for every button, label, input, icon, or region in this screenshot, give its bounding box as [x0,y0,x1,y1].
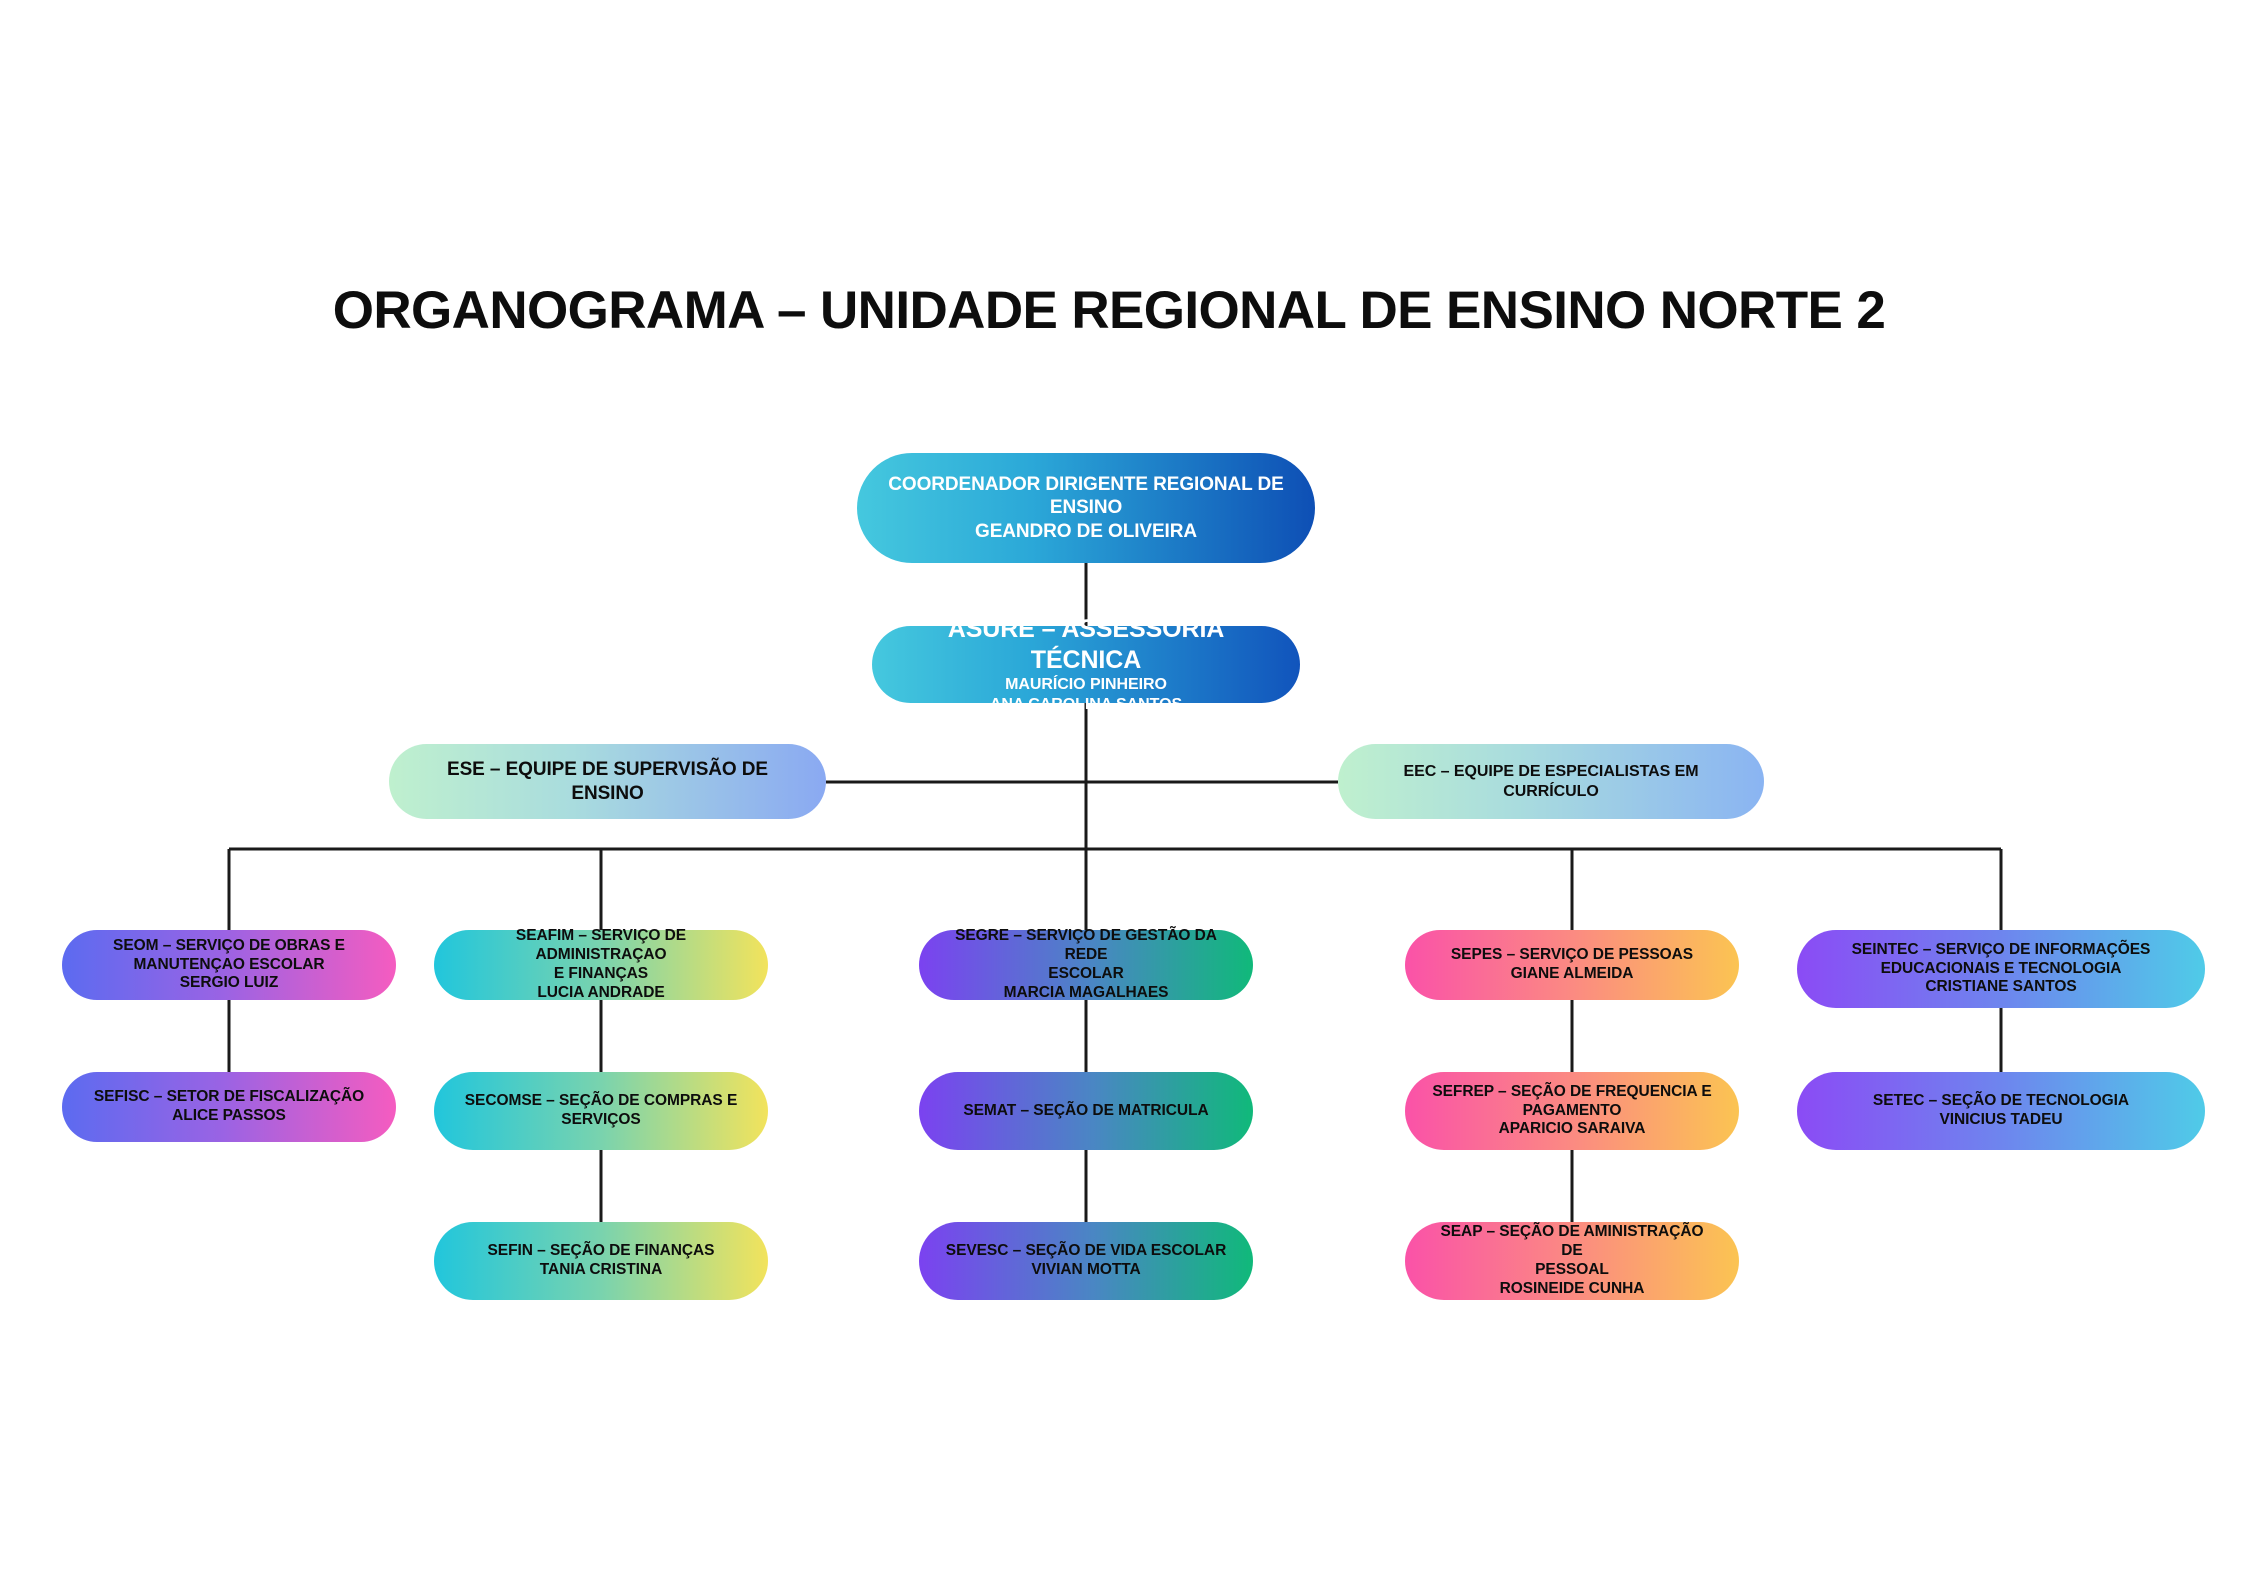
node-secomse-line-2: SERVIÇOS [460,1111,742,1130]
node-setec-title: SETEC – SEÇÃO DE TECNOLOGIA [1823,1092,2179,1111]
node-asure-title: ASURE – ASSESSORIA TÉCNICA [898,614,1274,675]
node-segre[interactable]: SEGRE – SERVIÇO DE GESTÃO DA REDE ESCOLA… [919,930,1253,1000]
node-seintec-line-2: EDUCACIONAIS E TECNOLOGIA [1823,960,2179,979]
node-ese-title: ESE – EQUIPE DE SUPERVISÃO DE ENSINO [415,758,800,804]
node-semat[interactable]: SEMAT – SEÇÃO DE MATRICULA [919,1072,1253,1150]
node-segre-person: MARCIA MAGALHAES [945,984,1227,1003]
node-setec[interactable]: SETEC – SEÇÃO DE TECNOLOGIA VINICIUS TAD… [1797,1072,2205,1150]
node-sefin-title: SEFIN – SEÇÃO DE FINANÇAS [460,1242,742,1261]
node-secomse-line-1: SECOMSE – SEÇÃO DE COMPRAS E [460,1092,742,1111]
node-sefrep-line-1: SEFREP – SEÇÃO DE FREQUENCIA E [1431,1083,1713,1102]
node-seap-person: ROSINEIDE CUNHA [1431,1280,1713,1299]
node-seom-line-2: MANUTENÇAO ESCOLAR [88,956,370,975]
node-seom-line-1: SEOM – SERVIÇO DE OBRAS E [88,937,370,956]
node-eec-line-2: CURRÍCULO [1364,782,1738,802]
node-asure[interactable]: ASURE – ASSESSORIA TÉCNICA MAURÍCIO PINH… [872,626,1300,703]
node-sefisc[interactable]: SEFISC – SETOR DE FISCALIZAÇÃO ALICE PAS… [62,1072,396,1142]
node-sefrep-line-2: PAGAMENTO [1431,1102,1713,1121]
node-coordenador-line-2: ENSINO [883,496,1289,519]
page-title: ORGANOGRAMA – UNIDADE REGIONAL DE ENSINO… [333,280,1886,341]
node-seafim-person: LUCIA ANDRADE [460,984,742,1003]
node-asure-person-1: MAURÍCIO PINHEIRO [898,675,1274,695]
page-header-banner: ORGANOGRAMA – UNIDADE REGIONAL DE ENSINO… [44,236,2174,384]
node-sefin-person: TANIA CRISTINA [460,1261,742,1280]
node-sepes-title: SEPES – SERVIÇO DE PESSOAS [1431,946,1713,965]
node-seafim[interactable]: SEAFIM – SERVIÇO DE ADMINISTRAÇAO E FINA… [434,930,768,1000]
node-sepes[interactable]: SEPES – SERVIÇO DE PESSOAS GIANE ALMEIDA [1405,930,1739,1000]
node-sefisc-title: SEFISC – SETOR DE FISCALIZAÇÃO [88,1088,370,1107]
node-seom-person: SERGIO LUIZ [88,974,370,993]
node-setec-person: VINICIUS TADEU [1823,1111,2179,1130]
node-seom[interactable]: SEOM – SERVIÇO DE OBRAS E MANUTENÇAO ESC… [62,930,396,1000]
node-seap-line-1: SEAP – SEÇÃO DE AMINISTRAÇÃO DE [1431,1223,1713,1261]
node-coordenador-person: GEANDRO DE OLIVEIRA [883,520,1289,543]
node-seintec-person: CRISTIANE SANTOS [1823,978,2179,997]
node-segre-line-2: ESCOLAR [945,965,1227,984]
node-sefin[interactable]: SEFIN – SEÇÃO DE FINANÇAS TANIA CRISTINA [434,1222,768,1300]
node-coordenador-line-1: COORDENADOR DIRIGENTE REGIONAL DE [883,473,1289,496]
node-sevesc[interactable]: SEVESC – SEÇÃO DE VIDA ESCOLAR VIVIAN MO… [919,1222,1253,1300]
node-seap[interactable]: SEAP – SEÇÃO DE AMINISTRAÇÃO DE PESSOAL … [1405,1222,1739,1300]
node-secomse[interactable]: SECOMSE – SEÇÃO DE COMPRAS E SERVIÇOS [434,1072,768,1150]
node-sefrep-person: APARICIO SARAIVA [1431,1120,1713,1139]
node-eec[interactable]: EEC – EQUIPE DE ESPECIALISTAS EM CURRÍCU… [1338,744,1764,819]
node-asure-person-2: ANA CAROLINA SANTOS [898,695,1274,715]
node-ese[interactable]: ESE – EQUIPE DE SUPERVISÃO DE ENSINO [389,744,826,819]
node-seafim-line-2: E FINANÇAS [460,965,742,984]
node-sefisc-person: ALICE PASSOS [88,1107,370,1126]
organogram-canvas: ORGANOGRAMA – UNIDADE REGIONAL DE ENSINO… [0,0,2245,1587]
node-sefrep[interactable]: SEFREP – SEÇÃO DE FREQUENCIA E PAGAMENTO… [1405,1072,1739,1150]
node-eec-line-1: EEC – EQUIPE DE ESPECIALISTAS EM [1364,762,1738,782]
node-segre-line-1: SEGRE – SERVIÇO DE GESTÃO DA REDE [945,927,1227,965]
node-semat-title: SEMAT – SEÇÃO DE MATRICULA [945,1102,1227,1121]
node-seafim-line-1: SEAFIM – SERVIÇO DE ADMINISTRAÇAO [460,927,742,965]
node-coordenador[interactable]: COORDENADOR DIRIGENTE REGIONAL DE ENSINO… [857,453,1315,563]
node-seintec-line-1: SEINTEC – SERVIÇO DE INFORMAÇÕES [1823,941,2179,960]
node-sepes-person: GIANE ALMEIDA [1431,965,1713,984]
node-sevesc-person: VIVIAN MOTTA [945,1261,1227,1280]
node-seintec[interactable]: SEINTEC – SERVIÇO DE INFORMAÇÕES EDUCACI… [1797,930,2205,1008]
node-seap-line-2: PESSOAL [1431,1261,1713,1280]
node-sevesc-title: SEVESC – SEÇÃO DE VIDA ESCOLAR [945,1242,1227,1261]
